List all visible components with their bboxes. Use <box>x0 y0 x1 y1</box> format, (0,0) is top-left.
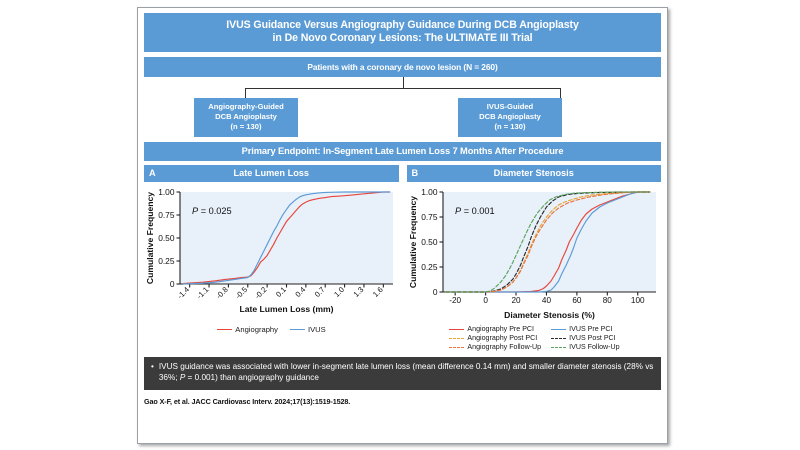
y-tick-label: 0.25 <box>421 262 438 272</box>
randomization-flow-diagram: Angiography-Guided DCB Angioplasty (n = … <box>144 77 661 135</box>
x-tick-label: 0.1 <box>274 285 288 299</box>
panel-header-row: A Late Lumen Loss B Diameter Stenosis <box>144 165 661 182</box>
plot-a-wrap: 00.250.500.751.00-1.4-1.1-0.8-0.5-0.20.1… <box>144 184 399 324</box>
x-tick-label: 1.0 <box>332 285 346 299</box>
arm-ivus-line1: IVUS-Guided <box>460 102 560 112</box>
figure-title-banner: IVUS Guidance Versus Angiography Guidanc… <box>144 13 661 52</box>
legend-swatch <box>551 329 566 330</box>
conclusion-text-post: = 0.001) than angiography guidance <box>185 373 319 382</box>
panel-header-a: A Late Lumen Loss <box>144 165 399 182</box>
figure-title-line1: IVUS Guidance Versus Angiography Guidanc… <box>148 19 657 32</box>
legend-a-item: Angiography <box>217 325 278 334</box>
panel-title-b: Diameter Stenosis <box>494 168 574 178</box>
x-tick-label: -0.2 <box>253 285 269 301</box>
y-axis-title: Cumulative Frequency <box>408 196 418 288</box>
x-axis-title: Diameter Stenosis (%) <box>504 310 595 320</box>
p-value-number: = 0.001 <box>461 206 494 216</box>
legend-swatch <box>449 338 464 339</box>
x-tick-label: 20 <box>511 296 521 305</box>
y-tick-label: 0 <box>170 279 175 289</box>
legend-panel-b: Angiography Pre PCIIVUS Pre PCIAngiograp… <box>407 325 662 351</box>
x-tick-label: 0 <box>483 296 488 305</box>
y-tick-label: 0.25 <box>158 256 175 266</box>
legend-b-item: Angiography Post PCI <box>449 334 541 342</box>
legend-swatch <box>551 338 566 339</box>
central-illustration-figure: IVUS Guidance Versus Angiography Guidanc… <box>137 7 668 444</box>
screenshot-canvas: IVUS Guidance Versus Angiography Guidanc… <box>0 0 800 450</box>
arm-ivus-line2: DCB Angioplasty <box>460 112 560 122</box>
arm-angiography-line3: (n = 130) <box>196 122 296 132</box>
y-tick-label: 0.75 <box>158 210 175 220</box>
panel-letter-a: A <box>149 168 156 178</box>
legend-b-item: Angiography Pre PCI <box>449 325 541 333</box>
legend-b-item: IVUS Post PCI <box>551 334 619 342</box>
p-value-number: = 0.025 <box>198 206 231 216</box>
arm-ivus-line3: (n = 130) <box>460 122 560 132</box>
x-tick-label: 1.6 <box>371 285 385 299</box>
panel-a: 00.250.500.751.00-1.4-1.1-0.8-0.5-0.20.1… <box>144 184 399 351</box>
y-tick-label: 1.00 <box>158 187 175 197</box>
y-tick-label: 0 <box>433 287 438 297</box>
panel-title-a: Late Lumen Loss <box>233 168 309 178</box>
legend-label: IVUS Pre PCI <box>569 325 612 333</box>
legend-label: IVUS Follow-Up <box>569 343 619 351</box>
p-value-annotation: P = 0.001 <box>455 206 495 216</box>
x-tick-label: 0.4 <box>293 285 307 299</box>
x-tick-label: 40 <box>542 296 552 305</box>
legend-label: Angiography Pre PCI <box>467 325 534 333</box>
late-lumen-loss-cdf-chart: 00.250.500.751.00-1.4-1.1-0.8-0.5-0.20.1… <box>144 184 399 324</box>
panels-row: 00.250.500.751.00-1.4-1.1-0.8-0.5-0.20.1… <box>144 184 661 351</box>
arm-angiography-line1: Angiography-Guided <box>196 102 296 112</box>
legend-swatch <box>290 329 305 330</box>
arm-box-ivus: IVUS-Guided DCB Angioplasty (n = 130) <box>458 98 562 137</box>
legend-a-item: IVUS <box>290 325 326 334</box>
x-tick-label: -0.8 <box>214 285 230 301</box>
panel-header-b: B Diameter Stenosis <box>407 165 662 182</box>
legend-swatch <box>217 329 232 330</box>
figure-title-line2: in De Novo Coronary Lesions: The ULTIMAT… <box>148 32 657 45</box>
x-tick-label: -0.5 <box>234 285 250 301</box>
legend-b-item: IVUS Follow-Up <box>551 343 619 351</box>
diameter-stenosis-cdf-chart: 00.250.500.751.00-20020406080100P = 0.00… <box>407 184 662 324</box>
conclusion-text: IVUS guidance was associated with lower … <box>159 362 654 384</box>
primary-endpoint-banner: Primary Endpoint: In-Segment Late Lumen … <box>144 142 661 161</box>
legend-label: IVUS <box>308 325 326 334</box>
p-value-annotation: P = 0.025 <box>192 206 232 216</box>
y-tick-label: 0.50 <box>421 237 438 247</box>
legend-b-item: Angiography Follow-Up <box>449 343 541 351</box>
x-tick-label: 0.7 <box>313 285 327 299</box>
y-tick-label: 1.00 <box>421 187 438 197</box>
x-tick-label: -20 <box>449 296 461 305</box>
conclusion-strip: • IVUS guidance was associated with lowe… <box>144 357 661 390</box>
x-tick-label: 1.3 <box>352 285 366 299</box>
plot-b-wrap: 00.250.500.751.00-20020406080100P = 0.00… <box>407 184 662 324</box>
legend-label: Angiography Post PCI <box>467 334 537 342</box>
x-tick-label: -1.1 <box>195 285 211 301</box>
y-axis-title: Cumulative Frequency <box>145 192 155 284</box>
arm-angiography-line2: DCB Angioplasty <box>196 112 296 122</box>
legend-label: Angiography <box>235 325 278 334</box>
enrollment-banner: Patients with a coronary de novo lesion … <box>144 57 661 77</box>
legend-label: Angiography Follow-Up <box>467 343 541 351</box>
x-tick-label: 100 <box>631 296 645 305</box>
legend-label: IVUS Post PCI <box>569 334 616 342</box>
panel-b: 00.250.500.751.00-20020406080100P = 0.00… <box>407 184 662 351</box>
legend-swatch <box>449 347 464 348</box>
x-tick-label: 80 <box>603 296 613 305</box>
x-tick-label: 60 <box>572 296 582 305</box>
bullet-icon: • <box>151 362 154 384</box>
citation-line: Gao X-F, et al. JACC Cardiovasc Interv. … <box>144 397 661 406</box>
arm-box-angiography: Angiography-Guided DCB Angioplasty (n = … <box>194 98 298 137</box>
y-tick-label: 0.75 <box>421 212 438 222</box>
panel-letter-b: B <box>412 168 419 178</box>
legend-swatch <box>551 347 566 348</box>
connector-horizontal <box>245 88 561 89</box>
legend-panel-a: AngiographyIVUS <box>144 325 399 334</box>
legend-swatch <box>449 329 464 330</box>
legend-b-item: IVUS Pre PCI <box>551 325 619 333</box>
y-tick-label: 0.50 <box>158 233 175 243</box>
x-axis-title: Late Lumen Loss (mm) <box>239 304 333 314</box>
x-tick-label: -1.4 <box>175 285 191 301</box>
